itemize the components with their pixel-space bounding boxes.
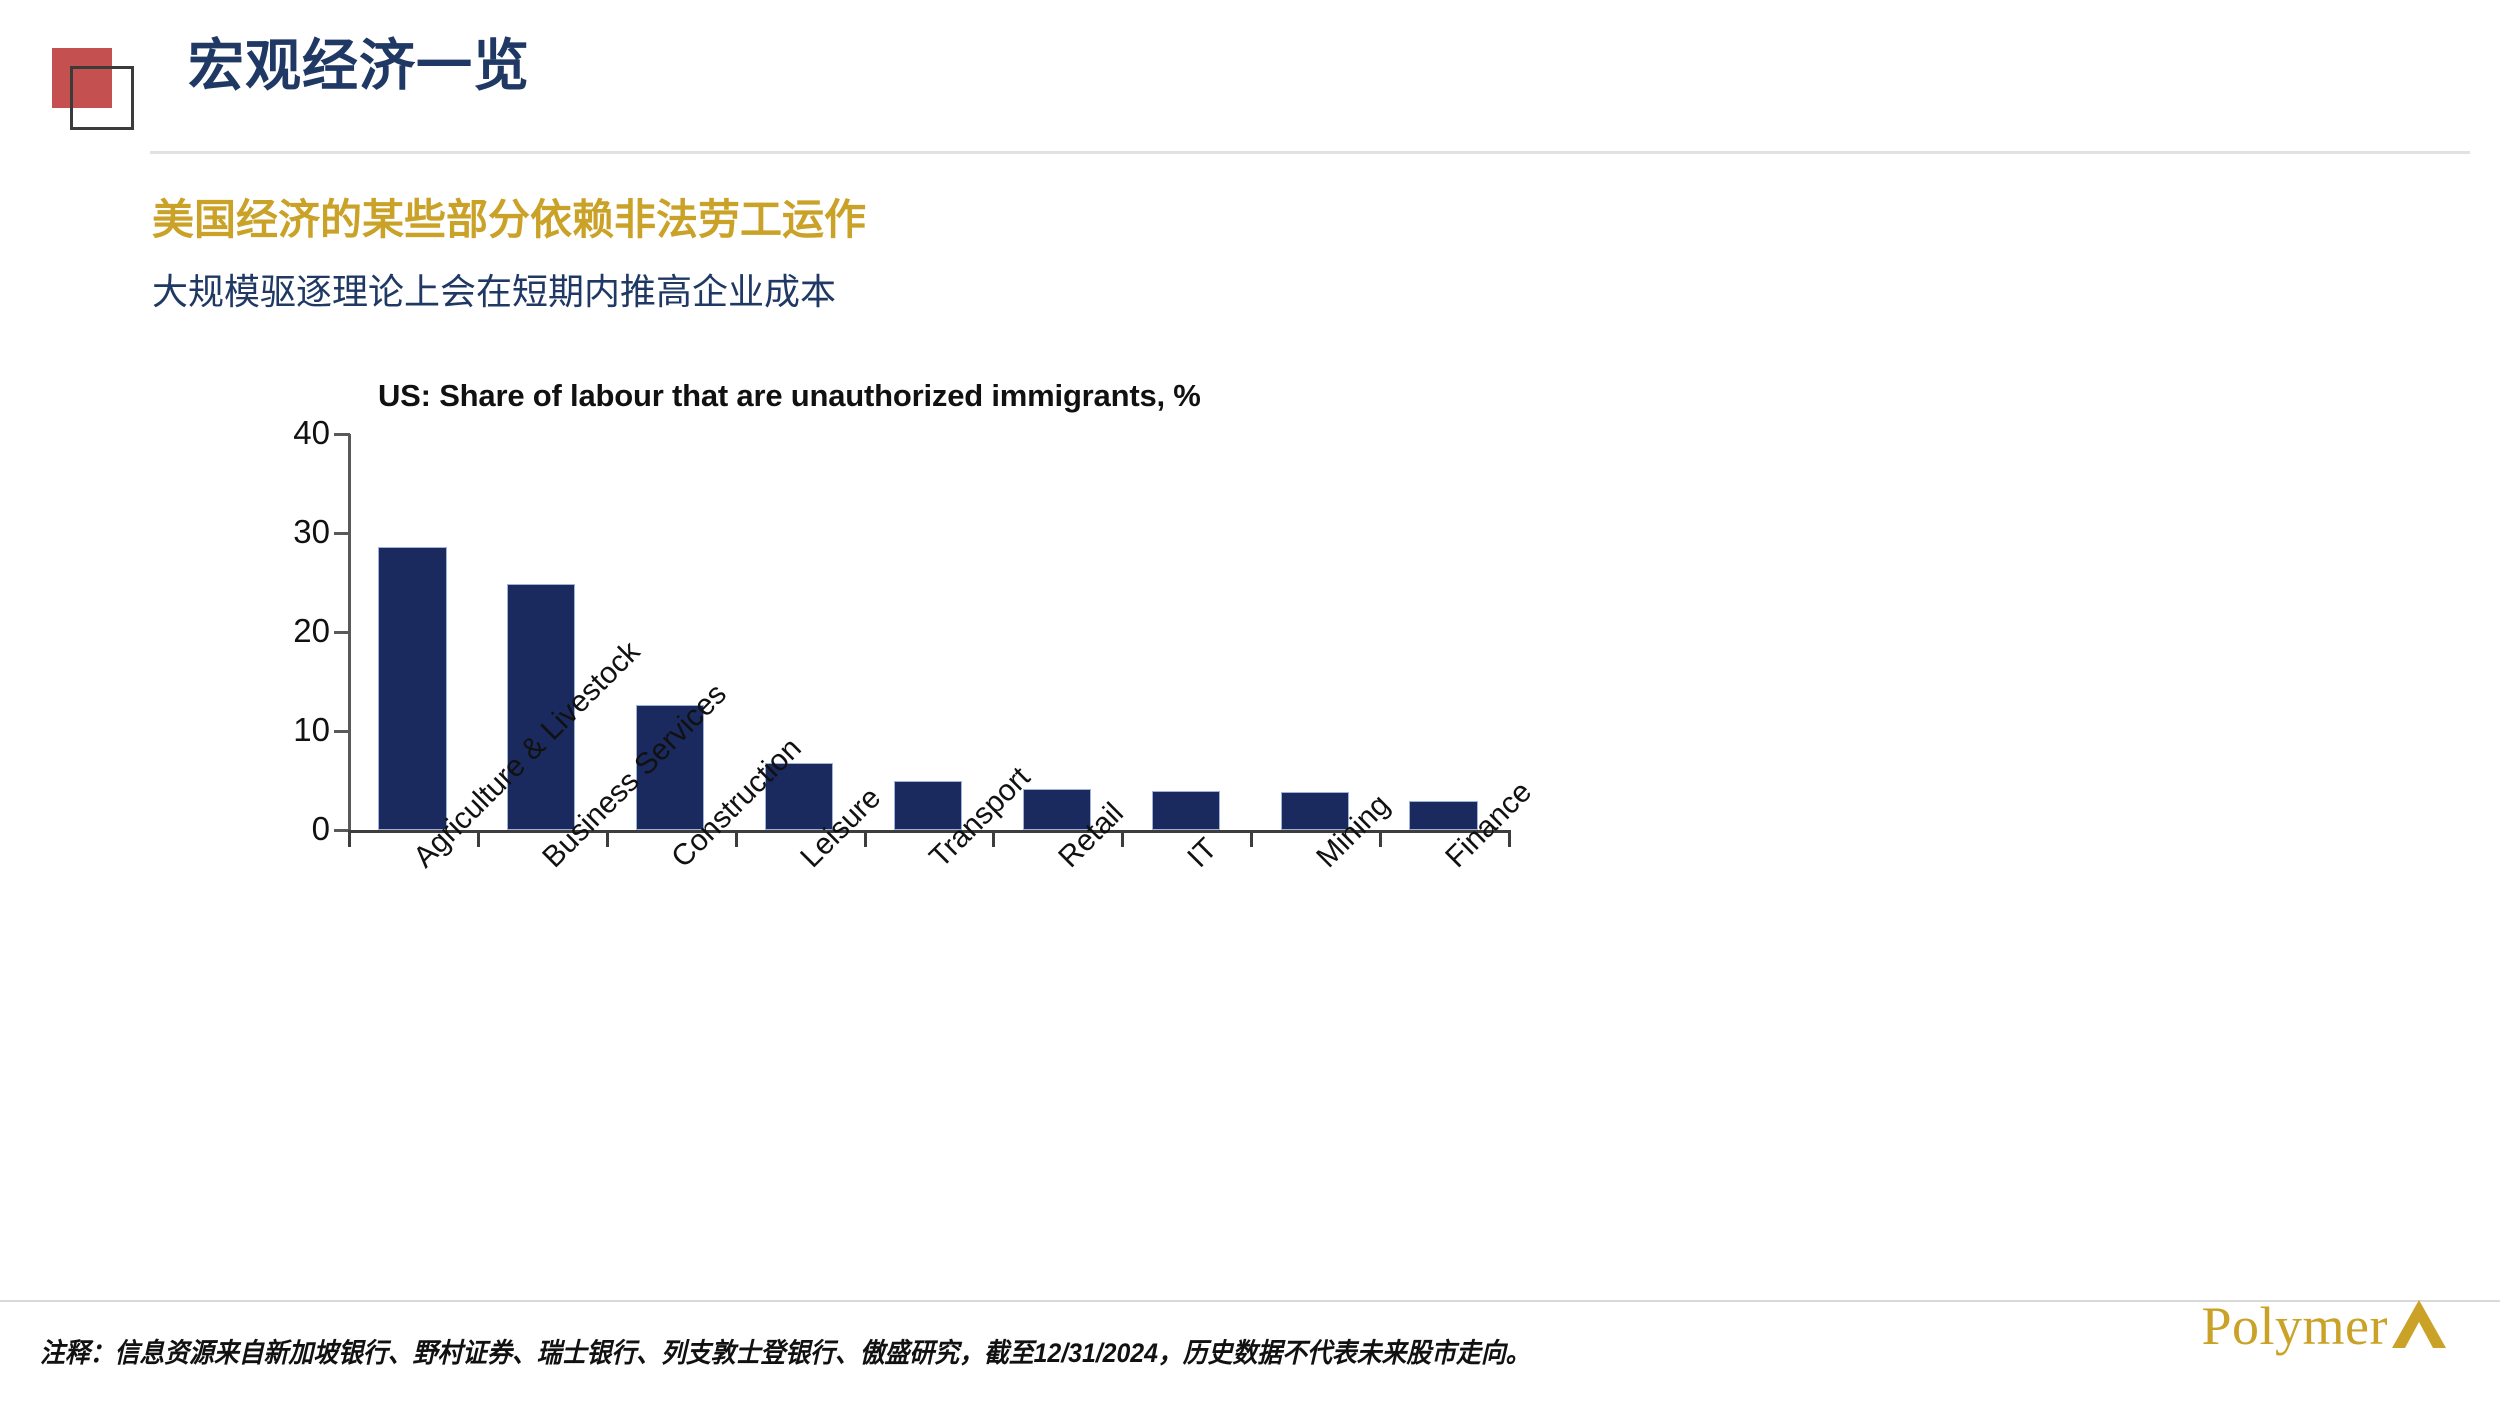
- y-tick-label: 0: [208, 812, 330, 845]
- bar-it: [1152, 791, 1220, 830]
- caret-up-icon: [2390, 1298, 2448, 1355]
- y-tick-label: 40: [208, 416, 330, 449]
- x-axis-label: Transport: [923, 850, 948, 875]
- headline-secondary: 大规模驱逐理论上会在短期内推高企业成本: [152, 270, 836, 313]
- x-tick-mark: [864, 830, 867, 847]
- footnote-text: 注释：信息资源来自新加坡银行、野村证券、瑞士银行、列支敦士登银行、傲盛研究，截至…: [40, 1331, 1531, 1370]
- x-axis-label: IT: [1181, 850, 1206, 875]
- x-tick-mark: [735, 830, 738, 847]
- x-tick-mark: [1250, 830, 1253, 847]
- header-divider: [150, 151, 2470, 154]
- y-tick-label: 20: [208, 614, 330, 647]
- x-axis-label: Agriculture & Livestock: [408, 850, 433, 875]
- x-tick-mark: [1121, 830, 1124, 847]
- slide-header: 宏观经济一览: [0, 0, 2500, 152]
- x-axis-label: Finance: [1439, 850, 1464, 875]
- bar-agriculture-livestock: [378, 547, 446, 830]
- footer-divider: [0, 1300, 2500, 1302]
- x-tick-mark: [606, 830, 609, 847]
- x-axis-labels: Agriculture & LivestockBusiness Services…: [348, 840, 1548, 1160]
- x-tick-mark: [348, 830, 351, 847]
- y-tick-label: 10: [208, 713, 330, 746]
- x-tick-mark: [1379, 830, 1382, 847]
- x-tick-mark: [477, 830, 480, 847]
- x-axis-label: Business Services: [537, 850, 562, 875]
- brand-logo-mark: [52, 48, 128, 124]
- polymer-wordmark: Polymer: [2202, 1299, 2389, 1353]
- x-tick-mark: [992, 830, 995, 847]
- brand-square-outline-icon: [70, 66, 134, 130]
- bar-chart-figure: US: Share of labour that are unauthorize…: [280, 378, 1700, 1158]
- headline-primary: 美国经济的某些部分依赖非法劳工运作: [152, 196, 866, 244]
- x-tick-mark: [1508, 830, 1511, 847]
- page-title: 宏观经济一览: [188, 38, 530, 94]
- x-axis-label: Retail: [1052, 850, 1077, 875]
- x-axis-label: Construction: [666, 850, 691, 875]
- x-axis-label: Mining: [1310, 850, 1335, 875]
- x-axis-label: Leisure: [794, 850, 819, 875]
- y-tick-label: 30: [208, 515, 330, 548]
- polymer-logo: Polymer: [2202, 1294, 2449, 1358]
